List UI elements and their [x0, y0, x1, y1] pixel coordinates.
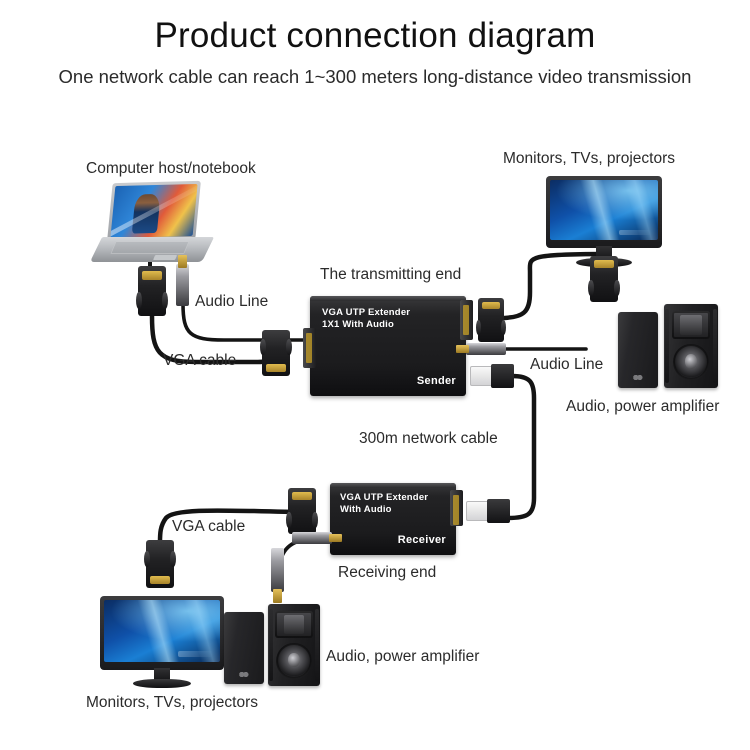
audio-jack-sender-out [466, 343, 506, 355]
laptop-touchpad [153, 255, 177, 260]
vga-connector-laptop [138, 266, 166, 316]
laptop-device [96, 182, 208, 266]
vga-connector-sender-in [262, 330, 290, 376]
receiver-role-label: Receiver [398, 534, 446, 548]
vga-connector-monitor-top [590, 256, 618, 302]
receiver-brand: VGA UTP Extender With Audio [340, 492, 428, 516]
rj45-connector-sender [470, 366, 514, 386]
label-vga-cable-left: VGA cable [163, 352, 236, 370]
page-title: Product connection diagram [0, 16, 750, 56]
monitor-top-screen [550, 180, 658, 240]
vga-connector-monitor-bottom [146, 540, 174, 588]
label-monitors-bottom: Monitors, TVs, projectors [86, 694, 258, 712]
monitor-bottom [100, 596, 224, 670]
label-receiving-end: Receiving end [338, 564, 436, 582]
network-cable-path [508, 376, 534, 518]
page-subtitle: One network cable can reach 1~300 meters… [0, 66, 750, 88]
speaker-bottom-plain [224, 612, 264, 684]
audio-line-bottom-path [278, 538, 330, 588]
receiver-vga-port-rj [450, 490, 463, 526]
diagram-canvas: Product connection diagram One network c… [0, 0, 750, 750]
label-audio-amp-right: Audio, power amplifier [566, 398, 719, 416]
sender-role-label: Sender [417, 375, 456, 389]
label-monitors-top: Monitors, TVs, projectors [503, 150, 675, 168]
label-transmitting-end: The transmitting end [320, 266, 461, 284]
label-computer-host: Computer host/notebook [86, 160, 256, 178]
speaker-right-driver [664, 304, 718, 388]
laptop-screen [110, 184, 197, 238]
vga-connector-sender-out [478, 298, 504, 342]
audio-jack-speaker-bottom [271, 548, 284, 592]
audio-jack-laptop [176, 264, 189, 306]
monitor-top [546, 176, 662, 248]
label-audio-amp-bottom: Audio, power amplifier [326, 648, 479, 666]
speaker-bottom-driver [268, 604, 320, 686]
laptop-base [90, 237, 214, 262]
sender-brand: VGA UTP Extender 1X1 With Audio [322, 307, 410, 331]
audio-jack-receiver-out [292, 532, 332, 544]
speaker-right-plain [618, 312, 658, 388]
label-network-cable: 300m network cable [359, 430, 498, 448]
sender-vga-port-out [460, 300, 473, 340]
sender-device: VGA UTP Extender 1X1 With Audio Sender [310, 296, 466, 396]
label-vga-cable-bottom: VGA cable [172, 518, 245, 536]
monitor-bottom-screen [104, 600, 220, 662]
receiver-device: VGA UTP Extender With Audio Receiver [330, 483, 456, 555]
label-audio-line-right: Audio Line [530, 356, 603, 374]
laptop-keyboard [110, 241, 189, 254]
rj45-connector-receiver [466, 501, 510, 521]
label-audio-line-left: Audio Line [195, 293, 268, 311]
sender-vga-port-in [303, 328, 316, 368]
laptop-lid [107, 181, 201, 241]
vga-connector-receiver-out [288, 488, 316, 534]
